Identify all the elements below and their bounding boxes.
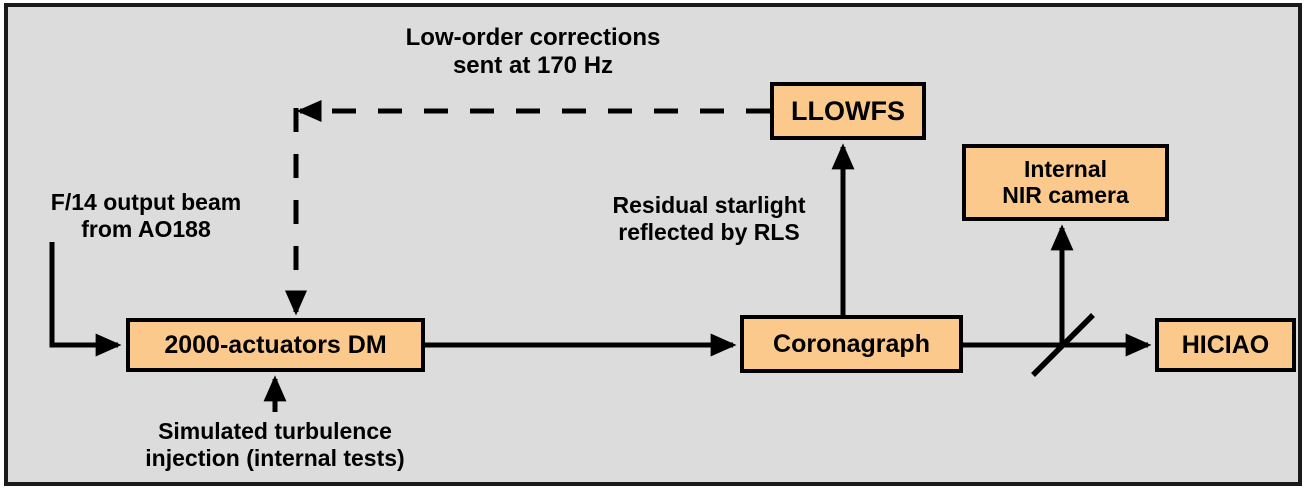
node-llowfs[interactable]: LLOWFS <box>770 82 926 140</box>
node-llowfs-label: LLOWFS <box>791 96 905 126</box>
node-coronagraph[interactable]: Coronagraph <box>740 315 963 373</box>
label-residual-starlight: Residual starlight reflected by RLS <box>578 192 840 246</box>
node-internal-nir-camera-label: Internal NIR camera <box>1002 157 1129 209</box>
diagram-canvas: LLOWFS Internal NIR camera 2000-actuator… <box>0 0 1310 492</box>
node-coronagraph-label: Coronagraph <box>773 330 930 358</box>
node-2000-actuators-dm[interactable]: 2000-actuators DM <box>126 318 425 372</box>
label-input-beam: F/14 output beam from AO188 <box>10 189 282 243</box>
node-internal-nir-camera[interactable]: Internal NIR camera <box>962 144 1169 221</box>
label-turbulence-injection: Simulated turbulence injection (internal… <box>112 418 438 472</box>
label-low-order-corrections: Low-order corrections sent at 170 Hz <box>366 24 700 81</box>
node-hiciao[interactable]: HICIAO <box>1155 318 1296 372</box>
node-hiciao-label: HICIAO <box>1182 331 1270 359</box>
node-2000-actuators-dm-label: 2000-actuators DM <box>164 331 386 359</box>
